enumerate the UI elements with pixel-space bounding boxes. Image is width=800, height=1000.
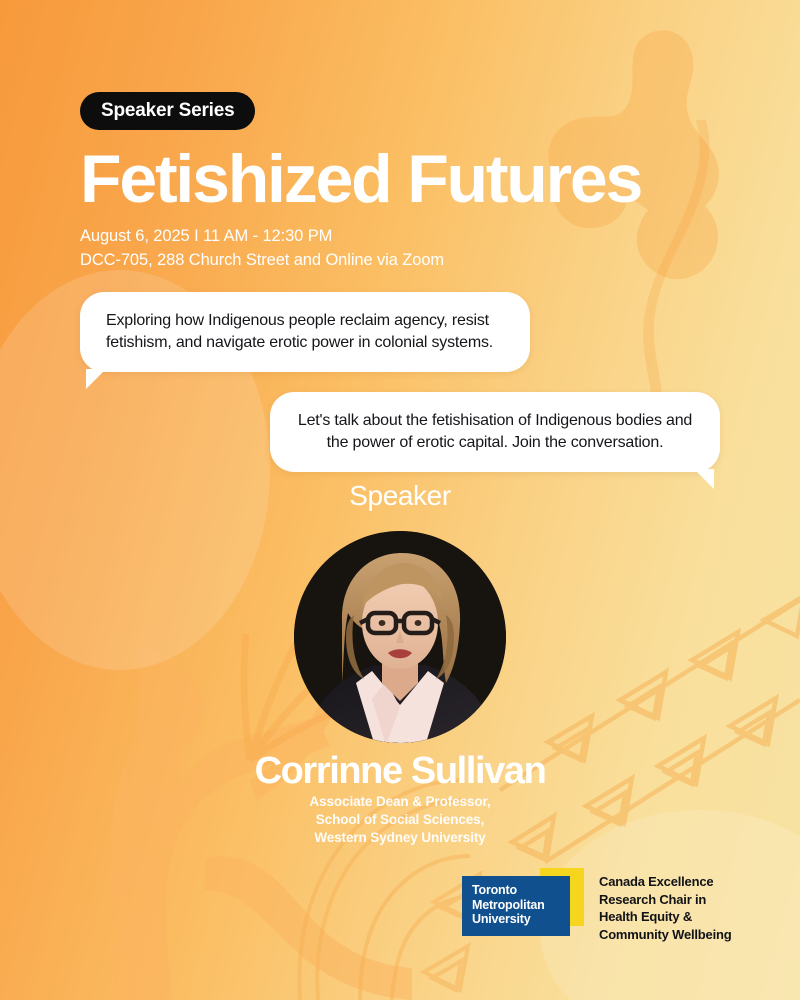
cerc-line-3: Health Equity & [599, 908, 731, 926]
speaker-affiliation: Associate Dean & Professor, School of So… [0, 793, 800, 848]
speaker-affiliation-line-2: School of Social Sciences, [0, 811, 800, 829]
event-location: DCC-705, 288 Church Street and Online vi… [80, 249, 720, 273]
poster-header: Speaker Series Fetishized Futures August… [80, 92, 720, 272]
cerc-wordmark: Canada Excellence Research Chair in Heal… [599, 873, 731, 944]
tmu-line-1: Toronto [472, 883, 570, 898]
cerc-line-4: Community Wellbeing [599, 926, 731, 944]
speaker-series-badge: Speaker Series [80, 92, 255, 130]
speaker-affiliation-line-3: Western Sydney University [0, 829, 800, 847]
event-poster: Speaker Series Fetishized Futures August… [0, 0, 800, 1000]
speaker-section-label: Speaker [0, 480, 800, 512]
page-title: Fetishized Futures [80, 146, 720, 213]
tmu-line-2: Metropolitan [472, 898, 570, 913]
cerc-line-2: Research Chair in [599, 891, 731, 909]
tmu-line-3: University [472, 912, 570, 927]
speech-bubble-2-text: Let's talk about the fetishisation of In… [298, 412, 692, 451]
speaker-name: Corrinne Sullivan [0, 750, 800, 793]
speech-bubble-2: Let's talk about the fetishisation of In… [270, 392, 720, 472]
speaker-affiliation-line-1: Associate Dean & Professor, [0, 793, 800, 811]
toronto-metropolitan-university-logo: Toronto Metropolitan University [462, 868, 584, 936]
cerc-line-1: Canada Excellence [599, 873, 731, 891]
footer-logos: Toronto Metropolitan University Canada E… [462, 868, 731, 944]
speech-bubble-1-text: Exploring how Indigenous people reclaim … [106, 312, 493, 351]
event-datetime: August 6, 2025 I 11 AM - 12:30 PM [80, 225, 720, 249]
speech-bubble-tail-icon [86, 369, 106, 389]
avatar [294, 531, 506, 743]
speech-bubble-1: Exploring how Indigenous people reclaim … [80, 292, 530, 372]
logo-blue-panel: Toronto Metropolitan University [462, 876, 570, 936]
speaker-photo [294, 531, 506, 743]
